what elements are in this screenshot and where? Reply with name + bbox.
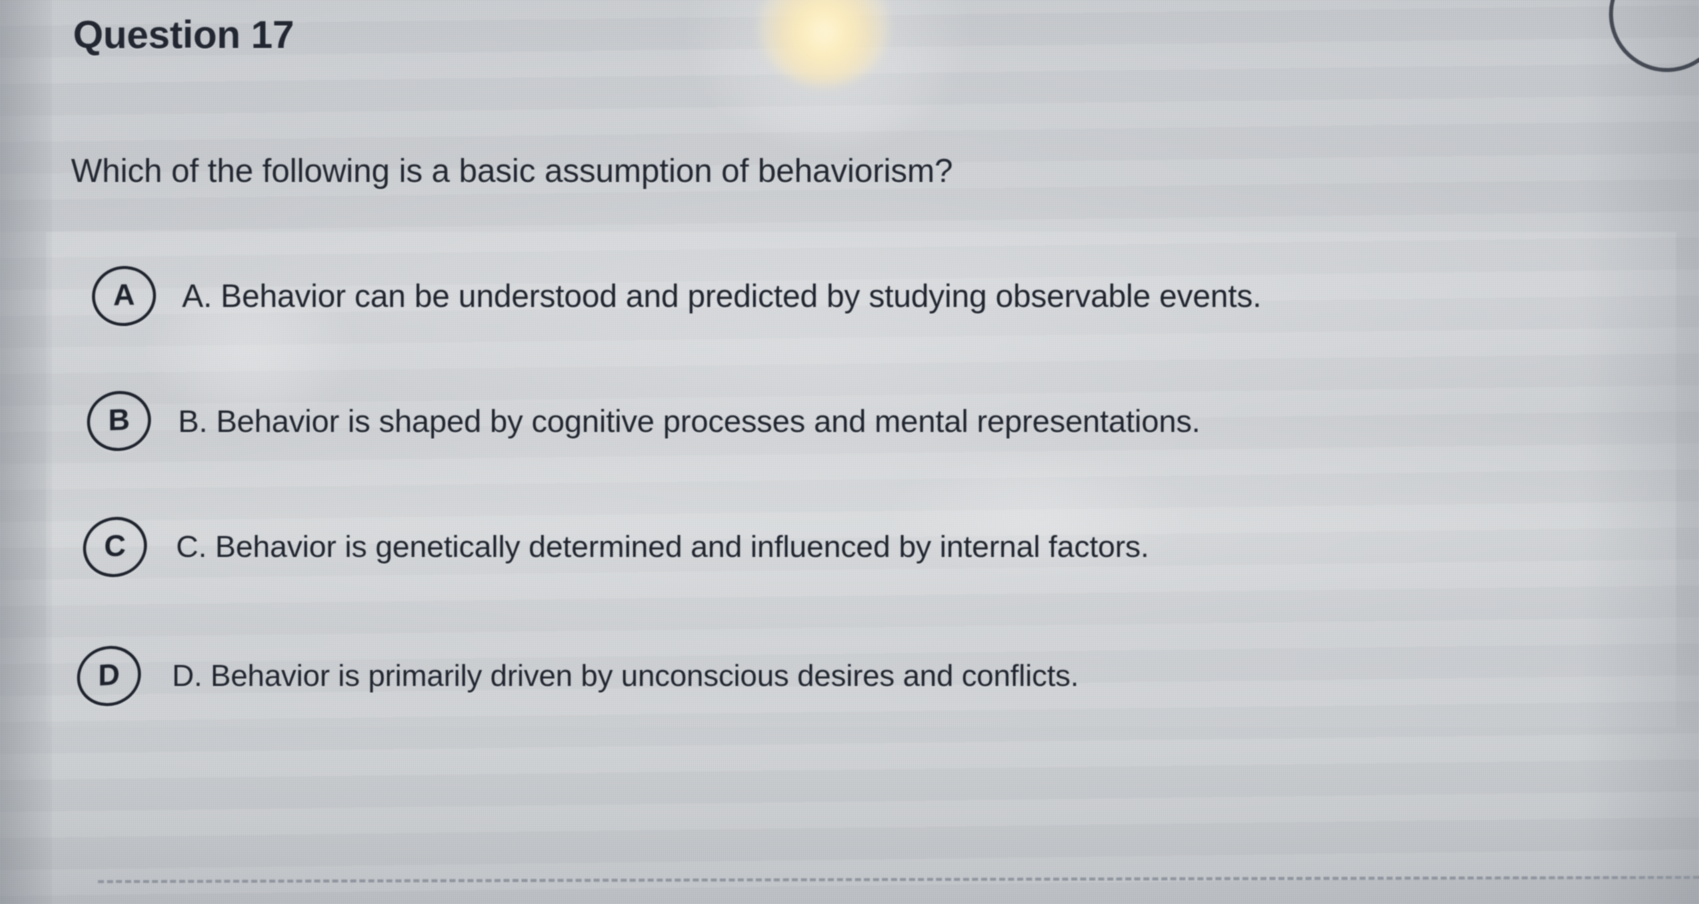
radio-button-a[interactable]: A [92,265,157,327]
radio-button-c[interactable]: C [83,515,147,578]
answer-option-b-label: B. Behavior is shaped by cognitive proce… [178,403,1200,440]
question-card: Question 17 Which of the following is a … [46,0,1699,904]
answer-option-a-label: A. Behavior can be understood and predic… [182,278,1261,315]
page-title: Question 17 [73,14,294,58]
answer-options-list: A A. Behavior can be understood and pred… [46,232,1676,727]
answer-option-c[interactable]: C C. Behavior is genetically determined … [46,497,1676,597]
dashed-divider [98,876,1699,883]
question-text: Which of the following is a basic assump… [71,152,953,190]
answer-option-a[interactable]: A A. Behavior can be understood and pred… [46,246,1676,346]
answer-option-c-label: C. Behavior is genetically determined an… [176,529,1149,565]
answer-option-d-label: D. Behavior is primarily driven by uncon… [172,659,1079,694]
answer-option-b[interactable]: B B. Behavior is shaped by cognitive pro… [46,371,1676,471]
radio-button-d[interactable]: D [77,644,141,708]
radio-button-b[interactable]: B [87,390,151,452]
answer-option-d[interactable]: D D. Behavior is primarily driven by unc… [46,626,1676,726]
screen-photo: Question 17 Which of the following is a … [0,0,1699,904]
